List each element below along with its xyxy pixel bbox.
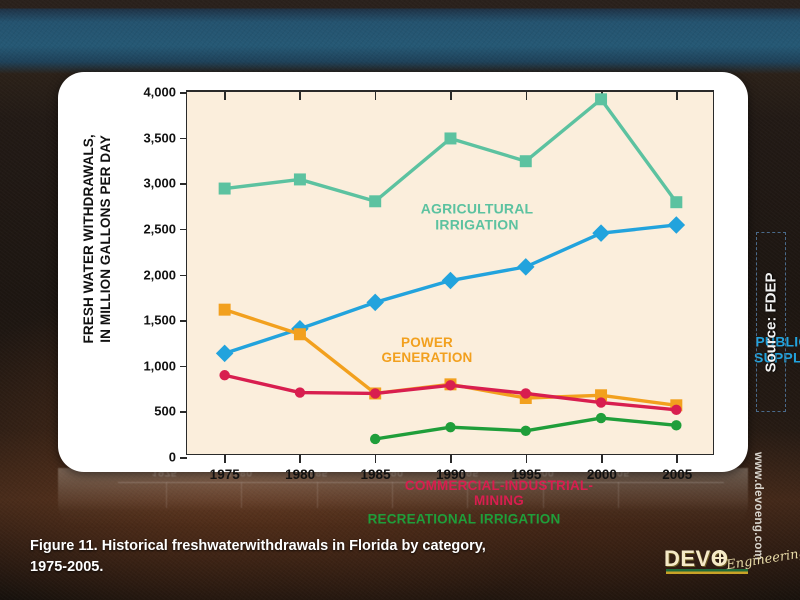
data-point-agricultural (219, 183, 231, 195)
data-point-recreational (445, 422, 455, 432)
plot-area: 05001,0001,5002,0002,5003,0003,5004,000 … (186, 90, 714, 455)
reflection-tick (241, 482, 242, 508)
data-point-recreational (596, 413, 606, 423)
data-point-agricultural (369, 195, 381, 207)
series-label-agricultural: AGRICULTURAL IRRIGATION (421, 201, 534, 232)
y-axis-tick (180, 411, 187, 413)
y-axis-tick (180, 366, 187, 368)
x-axis-label: 1980 (285, 467, 315, 482)
y-axis-label: 1,500 (143, 313, 176, 328)
data-point-commercial (295, 387, 305, 397)
y-axis-tick (180, 275, 187, 277)
source-badge: Source: FDEP (756, 232, 786, 412)
x-axis-label: 2005 (662, 467, 692, 482)
data-point-power (219, 304, 231, 316)
x-axis-label: 1985 (361, 467, 391, 482)
y-axis-tick (180, 92, 187, 94)
y-axis-label: 2,500 (143, 221, 176, 236)
data-point-public_supply (366, 294, 384, 312)
data-point-public_supply (592, 224, 610, 242)
data-point-commercial (671, 405, 681, 415)
data-point-agricultural (294, 173, 306, 185)
y-axis-tick (180, 183, 187, 185)
data-point-recreational (521, 426, 531, 436)
data-point-commercial (219, 370, 229, 380)
data-point-commercial (445, 380, 455, 390)
y-axis-label: 0 (169, 450, 176, 465)
data-point-power (294, 328, 306, 340)
reflection-tick (166, 482, 167, 508)
y-axis-tick (180, 229, 187, 231)
y-axis-label: 3,500 (143, 130, 176, 145)
series-label-recreational: RECREATIONAL IRRIGATION (368, 511, 561, 526)
y-axis-tick (180, 320, 187, 322)
y-axis-label: 4,000 (143, 85, 176, 100)
devo-engineering-logo: DEVO Engineering (664, 544, 774, 584)
series-label-power: POWER GENERATION (381, 335, 472, 365)
y-axis-tick (180, 457, 187, 459)
figure-caption: Figure 11. Historical freshwaterwithdraw… (30, 536, 500, 578)
reflection-tick (317, 482, 318, 508)
y-axis-label: 3,000 (143, 176, 176, 191)
data-point-recreational (671, 420, 681, 430)
series-line-agricultural (225, 99, 677, 202)
reflection-tick (618, 482, 619, 508)
data-point-agricultural (520, 155, 532, 167)
y-axis-label: 1,000 (143, 358, 176, 373)
data-point-agricultural (670, 196, 682, 208)
y-axis-label: 2,000 (143, 267, 176, 282)
x-axis-label: 1975 (210, 467, 240, 482)
y-axis-title: FRESH WATER WITHDRAWALS, IN MILLION GALL… (81, 79, 115, 399)
data-point-commercial (521, 388, 531, 398)
data-point-public_supply (517, 258, 535, 276)
data-point-public_supply (668, 216, 686, 234)
series-lines (187, 92, 714, 456)
y-axis-tick (180, 138, 187, 140)
data-point-public_supply (216, 345, 234, 363)
chart-card: FRESH WATER WITHDRAWALS, IN MILLION GALL… (58, 72, 748, 472)
data-point-public_supply (442, 272, 460, 290)
data-point-agricultural (595, 93, 607, 105)
data-point-agricultural (444, 132, 456, 144)
data-point-recreational (370, 434, 380, 444)
series-label-commercial: COMMERCIAL-INDUSTRIAL-MINING (392, 478, 607, 508)
data-point-commercial (370, 388, 380, 398)
source-label: Source: FDEP (763, 272, 780, 372)
y-axis-label: 500 (154, 404, 176, 419)
data-point-commercial (596, 397, 606, 407)
